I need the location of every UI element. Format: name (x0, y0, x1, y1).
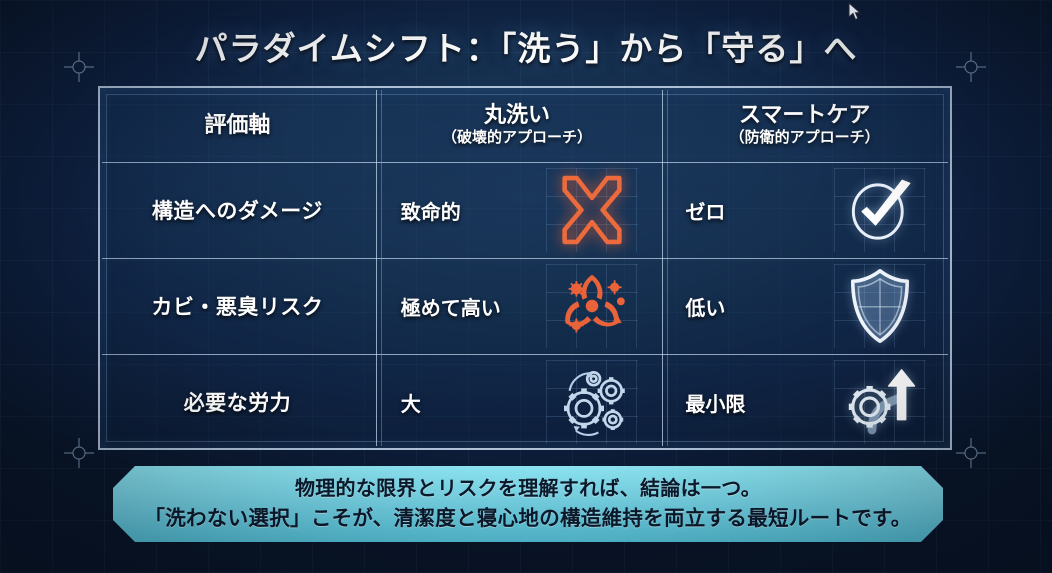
gears-icon (549, 362, 635, 442)
row-smart-value: ゼロ (659, 196, 809, 225)
page-title: パラダイムシフト：「洗う」から「守る」へ (0, 22, 1052, 70)
row-smart-icon-box (809, 354, 950, 450)
conclusion-banner-text: 物理的な限界とリスクを理解すれば、結論は一つ。 「洗わない選択」こそが、清潔度と… (144, 475, 911, 534)
row-axis-cell: カビ・悪臭リスク (100, 258, 375, 354)
row-wash-cell: 致命的 (375, 162, 660, 258)
row-smart-cell: 低い (659, 258, 950, 354)
biohazard-icon (551, 267, 633, 345)
banner-line-1: 物理的な限界とリスクを理解すれば、結論は一つ。 (144, 475, 911, 504)
shield-icon (846, 266, 914, 346)
check-circle-icon (843, 173, 917, 247)
comparison-table-wrapper: 評価軸 丸洗い （破壊的アプローチ） スマートケア （防衛的アプローチ） (98, 86, 952, 450)
table-row: カビ・悪臭リスク 極めて高い (100, 258, 950, 354)
slide-root: パラダイムシフト：「洗う」から「守る」へ (0, 0, 1052, 573)
row-axis-label: 構造へのダメージ (152, 195, 323, 225)
comparison-table: 評価軸 丸洗い （破壊的アプローチ） スマートケア （防衛的アプローチ） (98, 86, 952, 450)
row-axis-cell: 必要な労力 (100, 354, 375, 450)
header-axis-label: 評価軸 (204, 112, 270, 137)
row-axis-label: 必要な労力 (184, 387, 292, 417)
row-smart-icon-box (809, 258, 950, 354)
header-smart-title: スマートケア (659, 102, 950, 129)
mouse-pointer-icon (848, 2, 862, 22)
header-cell-wash: 丸洗い （破壊的アプローチ） (375, 88, 660, 162)
row-wash-icon-box (525, 354, 660, 450)
row-axis-label: カビ・悪臭リスク (151, 291, 323, 321)
crosshair-mark-bottom-right (956, 438, 986, 468)
header-smart-subtitle: （防衛的アプローチ） (659, 129, 950, 147)
row-wash-icon-box (525, 258, 660, 354)
row-wash-cell: 極めて高い (375, 258, 660, 354)
table-row: 構造へのダメージ 致命的 ゼロ (100, 162, 950, 258)
conclusion-banner: 物理的な限界とリスクを理解すれば、結論は一つ。 「洗わない選択」こそが、清潔度と… (113, 466, 943, 542)
header-wash-subtitle: （破壊的アプローチ） (375, 129, 660, 147)
row-wash-cell: 大 (375, 354, 660, 450)
banner-line-2: 「洗わない選択」こそが、清潔度と寝心地の構造維持を両立する最短ルートです。 (144, 504, 911, 534)
cross-x-icon (554, 172, 630, 248)
row-wash-value: 極めて高い (375, 292, 525, 321)
header-cell-smart: スマートケア （防衛的アプローチ） (659, 88, 950, 162)
row-wash-icon-box (525, 162, 660, 258)
row-wash-value: 大 (375, 388, 525, 417)
row-smart-cell: ゼロ (659, 162, 950, 258)
row-axis-cell: 構造へのダメージ (100, 162, 375, 258)
row-smart-value: 最小限 (659, 388, 809, 417)
table-row: 必要な労力 大 (100, 354, 950, 450)
gear-arrow-up-icon (838, 362, 922, 442)
header-cell-axis: 評価軸 (100, 88, 375, 162)
row-smart-icon-box (809, 162, 950, 258)
table-header-row: 評価軸 丸洗い （破壊的アプローチ） スマートケア （防衛的アプローチ） (100, 88, 950, 162)
crosshair-mark-bottom-left (64, 438, 94, 468)
row-smart-cell: 最小限 (659, 354, 950, 450)
row-smart-value: 低い (659, 292, 809, 321)
header-wash-title: 丸洗い (375, 102, 660, 129)
row-wash-value: 致命的 (375, 196, 525, 225)
